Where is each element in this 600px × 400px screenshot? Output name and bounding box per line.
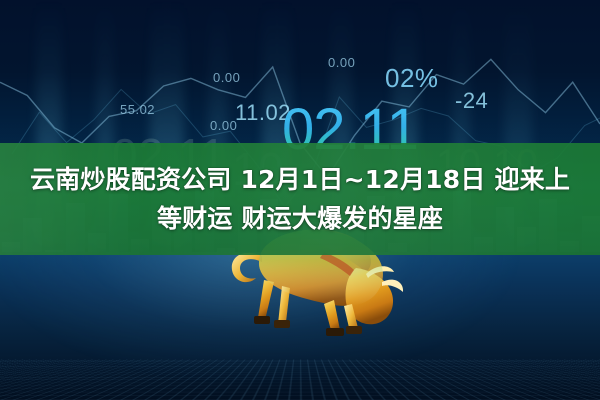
headline-line-2: 等财运 财运大爆发的星座 xyxy=(157,199,443,238)
overlay-number: 55.02 xyxy=(120,102,155,117)
overlay-number: -24 xyxy=(455,88,488,114)
overlay-number: 0.00 xyxy=(213,70,240,85)
headline-block: 云南炒股配资公司 12月1日~12月18日 迎来上 等财运 财运大爆发的星座 xyxy=(0,143,600,255)
overlay-number: 02% xyxy=(385,63,439,94)
headline-line-1: 云南炒股配资公司 12月1日~12月18日 迎来上 xyxy=(30,160,570,199)
promo-banner-image: 0.000.0002%55.0211.020.00-2402.1102.1110… xyxy=(0,0,600,400)
overlay-number: 0.00 xyxy=(328,55,355,70)
